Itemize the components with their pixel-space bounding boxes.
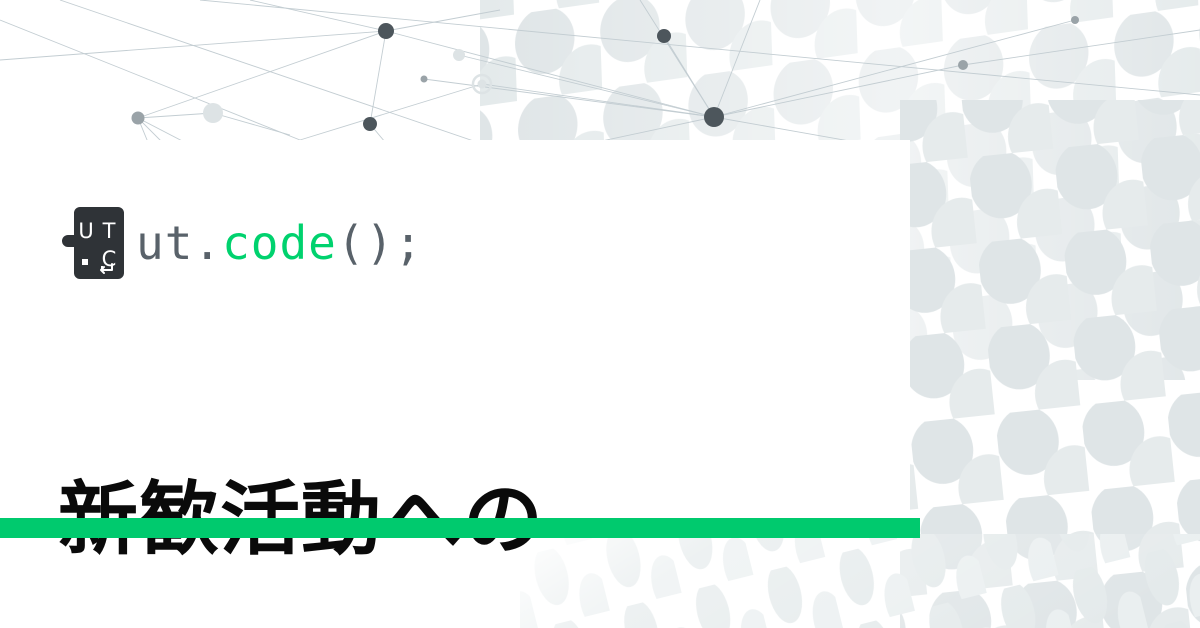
network-edge bbox=[0, 20, 300, 140]
network-edge bbox=[200, 0, 1200, 95]
network-edge bbox=[60, 0, 500, 150]
network-edge bbox=[0, 31, 386, 60]
network-edge bbox=[482, 84, 714, 117]
logo-letter-u: U bbox=[78, 219, 93, 243]
network-node bbox=[132, 112, 145, 125]
wordmark-part-code: code bbox=[222, 216, 337, 270]
network-node-ring bbox=[473, 75, 491, 93]
network-node-group bbox=[132, 16, 1080, 131]
network-edge bbox=[664, 36, 714, 117]
network-edge bbox=[213, 113, 290, 135]
network-edge bbox=[138, 113, 213, 118]
network-edge bbox=[424, 79, 714, 117]
network-edge bbox=[386, 10, 500, 31]
network-edge bbox=[714, 20, 1075, 117]
network-node bbox=[958, 60, 968, 70]
page-title: 新歓活動への ご協力のお願い bbox=[58, 296, 625, 628]
banner-canvas: U T C ut.code(); 新歓活動への ご協力のお願い bbox=[0, 0, 1200, 628]
network-edge bbox=[640, 0, 714, 117]
green-accent-bar bbox=[0, 518, 920, 538]
logo-letter-t: T bbox=[102, 219, 116, 243]
wordmark-part-prefix: ut. bbox=[136, 216, 222, 270]
wordmark-part-suffix: (); bbox=[337, 216, 423, 270]
network-edge bbox=[370, 31, 386, 124]
network-edge bbox=[714, 0, 760, 117]
network-node bbox=[453, 49, 465, 61]
network-node bbox=[1071, 16, 1079, 24]
network-edge bbox=[459, 55, 714, 117]
logo-letter-dot bbox=[82, 259, 88, 265]
network-edge bbox=[250, 0, 386, 31]
network-edge-group bbox=[0, 0, 1200, 160]
network-node-ring-core bbox=[478, 80, 487, 89]
brand-lockup: U T C ut.code(); bbox=[62, 206, 423, 280]
network-node bbox=[378, 23, 394, 39]
network-node bbox=[363, 117, 377, 131]
network-node bbox=[203, 103, 223, 123]
network-node bbox=[657, 29, 671, 43]
network-node bbox=[421, 76, 428, 83]
wordmark: ut.code(); bbox=[136, 220, 423, 266]
network-node bbox=[704, 107, 724, 127]
utcode-bracket-logo-icon: U T C bbox=[62, 207, 124, 279]
network-edge bbox=[138, 31, 386, 118]
network-edge bbox=[300, 84, 482, 140]
network-edge bbox=[963, 30, 1200, 65]
network-edge bbox=[714, 65, 963, 117]
network-edge bbox=[386, 31, 714, 117]
